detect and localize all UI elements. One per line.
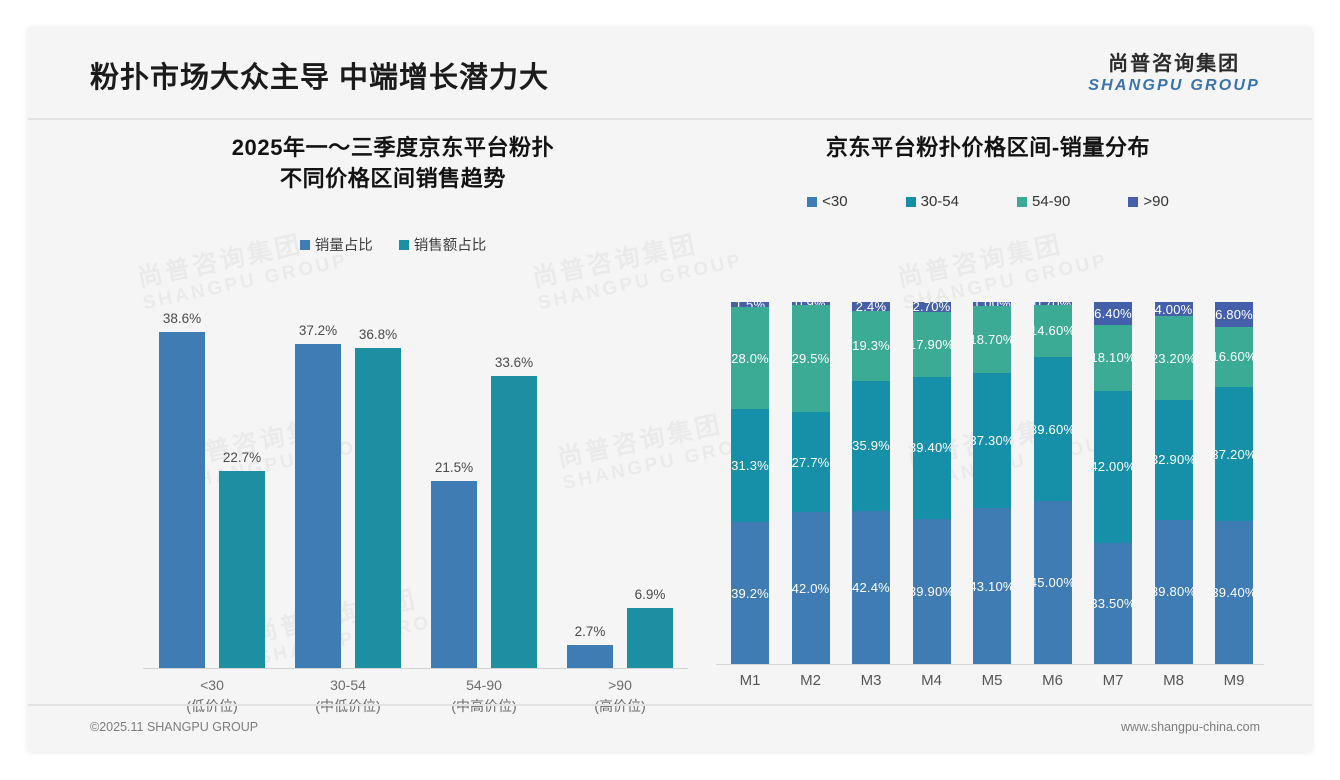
- stacked-bar-segment[interactable]: 6.40%: [1094, 302, 1132, 325]
- left-chart-title: 2025年一～三季度京东平台粉扑 不同价格区间销售趋势: [88, 132, 698, 194]
- stacked-bar-segment[interactable]: 18.10%: [1094, 325, 1132, 391]
- segment-value-label: 37.20%: [1215, 447, 1253, 462]
- stacked-bar[interactable]: 0.70%14.60%39.60%45.00%: [1034, 302, 1072, 664]
- stacked-bar-segment[interactable]: 42.00%: [1094, 391, 1132, 543]
- stacked-bar[interactable]: 2.4%19.3%35.9%42.4%: [852, 302, 890, 664]
- legend-item-30-54[interactable]: 30-54: [906, 193, 959, 210]
- bar-column[interactable]: 36.8%: [355, 320, 401, 668]
- x-axis-label: M1: [720, 672, 780, 689]
- stacked-bar-segment[interactable]: 19.3%: [852, 311, 890, 381]
- right-chart-legend: <30 30-54 54-90 >90: [708, 193, 1268, 210]
- segment-value-label: 39.40%: [913, 440, 951, 455]
- legend-swatch-icon: [300, 240, 310, 250]
- stacked-bar-segment[interactable]: 39.90%: [913, 519, 951, 663]
- page-title: 粉扑市场大众主导 中端增长潜力大: [90, 54, 549, 96]
- bar-group: 2.7%6.9%: [557, 320, 683, 668]
- bar-column[interactable]: 2.7%: [567, 320, 613, 668]
- left-chart-title-line1: 2025年一～三季度京东平台粉扑: [88, 132, 698, 163]
- bar-value-label: 2.7%: [575, 624, 606, 639]
- bar[interactable]: [627, 608, 673, 668]
- legend-swatch-icon: [399, 240, 409, 250]
- footer-copyright: ©2025.11 SHANGPU GROUP: [90, 720, 258, 734]
- bar[interactable]: [567, 645, 613, 668]
- stacked-bar[interactable]: 0.9%29.5%27.7%42.0%: [792, 302, 830, 664]
- segment-value-label: 23.20%: [1155, 351, 1193, 366]
- stacked-bar-segment[interactable]: 16.60%: [1215, 327, 1253, 387]
- footer-website[interactable]: www.shangpu-china.com: [1121, 720, 1260, 734]
- bar[interactable]: [295, 344, 341, 668]
- x-axis-label-range: 54-90: [421, 675, 547, 696]
- legend-item-gt90[interactable]: >90: [1128, 193, 1168, 210]
- stacked-bar-segment[interactable]: 39.40%: [1215, 521, 1253, 664]
- bar-value-label: 38.6%: [163, 311, 201, 326]
- x-axis-label-range: 30-54: [285, 675, 411, 696]
- stacked-bar-segment[interactable]: 42.4%: [852, 511, 890, 664]
- stacked-bar[interactable]: 1.5%28.0%31.3%39.2%: [731, 302, 769, 664]
- x-axis-label: M6: [1023, 672, 1083, 689]
- legend-swatch-icon: [807, 197, 817, 207]
- segment-value-label: 4.00%: [1155, 302, 1193, 317]
- stacked-bar-segment[interactable]: 18.70%: [973, 306, 1011, 374]
- segment-value-label: 17.90%: [913, 337, 951, 352]
- segment-value-label: 29.5%: [792, 351, 830, 366]
- left-chart-legend: 销量占比 销售额占比: [88, 234, 698, 255]
- right-chart-x-axis: [716, 664, 1264, 665]
- bar-column[interactable]: 33.6%: [491, 320, 537, 668]
- legend-item-sales-volume[interactable]: 销量占比: [300, 234, 373, 255]
- stacked-bar-segment[interactable]: 14.60%: [1034, 305, 1072, 358]
- stacked-bar-segment[interactable]: 31.3%: [731, 409, 769, 522]
- stacked-bar-segment[interactable]: 39.60%: [1034, 357, 1072, 500]
- legend-swatch-icon: [906, 197, 916, 207]
- slide-footer: ©2025.11 SHANGPU GROUP www.shangpu-china…: [28, 704, 1312, 752]
- segment-value-label: 39.80%: [1155, 584, 1193, 599]
- segment-value-label: 39.40%: [1215, 585, 1253, 600]
- legend-item-lt30[interactable]: <30: [807, 193, 847, 210]
- bar-column[interactable]: 38.6%: [159, 320, 205, 668]
- segment-value-label: 39.60%: [1034, 422, 1072, 437]
- bar[interactable]: [431, 481, 477, 668]
- stacked-bar-segment[interactable]: 23.20%: [1155, 316, 1193, 400]
- slide-header: 粉扑市场大众主导 中端增长潜力大 尚普咨询集团 SHANGPU GROUP: [28, 28, 1312, 120]
- bar-column[interactable]: 37.2%: [295, 320, 341, 668]
- stacked-bar-segment[interactable]: 37.30%: [973, 373, 1011, 508]
- brand-logo: 尚普咨询集团 SHANGPU GROUP: [1088, 52, 1260, 95]
- x-axis-label-range: >90: [557, 675, 683, 696]
- stacked-bar-segment[interactable]: 6.80%: [1215, 302, 1253, 327]
- stacked-bar-group: 6.40%18.10%42.00%33.50%: [1083, 302, 1143, 664]
- bar[interactable]: [355, 348, 401, 668]
- stacked-bar-group: 0.9%29.5%27.7%42.0%: [781, 302, 841, 664]
- legend-label: 30-54: [921, 193, 959, 210]
- left-chart-x-axis: [143, 668, 688, 669]
- segment-value-label: 42.0%: [792, 581, 830, 596]
- segment-value-label: 37.30%: [973, 433, 1011, 448]
- right-chart-panel: 京东平台粉扑价格区间-销量分布 <30 30-54 54-90 >90 1.5%…: [708, 132, 1268, 722]
- bar-group: 37.2%36.8%: [285, 320, 411, 668]
- right-chart-x-labels: M1M2M3M4M5M6M7M8M9: [716, 672, 1264, 702]
- bar-group: 21.5%33.6%: [421, 320, 547, 668]
- segment-value-label: 14.60%: [1034, 323, 1072, 338]
- stacked-bar-segment[interactable]: 33.50%: [1094, 543, 1132, 664]
- x-axis-label: M9: [1204, 672, 1264, 689]
- logo-english-text: SHANGPU GROUP: [1088, 77, 1260, 95]
- stacked-bar-segment[interactable]: 2.70%: [913, 302, 951, 312]
- segment-value-label: 33.50%: [1094, 596, 1132, 611]
- stacked-bar[interactable]: 2.70%17.90%39.40%39.90%: [913, 302, 951, 664]
- stacked-bar-segment[interactable]: 27.7%: [792, 412, 830, 512]
- bar-column[interactable]: 21.5%: [431, 320, 477, 668]
- right-chart-title: 京东平台粉扑价格区间-销量分布: [708, 132, 1268, 163]
- segment-value-label: 42.4%: [852, 580, 890, 595]
- stacked-bar-segment[interactable]: 42.0%: [792, 512, 830, 664]
- legend-item-sales-amount[interactable]: 销售额占比: [399, 234, 487, 255]
- segment-value-label: 19.3%: [852, 338, 890, 353]
- bar-value-label: 33.6%: [495, 355, 533, 370]
- stacked-bar[interactable]: 6.40%18.10%42.00%33.50%: [1094, 302, 1132, 664]
- x-axis-label: M4: [902, 672, 962, 689]
- bar[interactable]: [159, 332, 205, 668]
- legend-label: 销量占比: [315, 234, 373, 255]
- bar-group: 38.6%22.7%: [149, 320, 275, 668]
- bar-value-label: 37.2%: [299, 323, 337, 338]
- segment-value-label: 6.40%: [1094, 306, 1132, 321]
- stacked-bar-group: 4.00%23.20%32.90%39.80%: [1144, 302, 1204, 664]
- x-axis-label: M2: [781, 672, 841, 689]
- stacked-bar[interactable]: 4.00%23.20%32.90%39.80%: [1155, 302, 1193, 664]
- bar[interactable]: [491, 376, 537, 668]
- segment-value-label: 45.00%: [1034, 575, 1072, 590]
- stacked-bar-segment[interactable]: 39.80%: [1155, 520, 1193, 664]
- legend-item-54-90[interactable]: 54-90: [1017, 193, 1070, 210]
- stacked-bar-segment[interactable]: 45.00%: [1034, 501, 1072, 664]
- segment-value-label: 18.70%: [973, 332, 1011, 347]
- stacked-bar-group: 1.5%28.0%31.3%39.2%: [720, 302, 780, 664]
- segment-value-label: 32.90%: [1155, 452, 1193, 467]
- segment-value-label: 18.10%: [1094, 350, 1132, 365]
- stacked-bar-segment[interactable]: 43.10%: [973, 508, 1011, 664]
- x-axis-label-range: <30: [149, 675, 275, 696]
- logo-chinese-text: 尚普咨询集团: [1088, 52, 1260, 77]
- left-chart-title-line2: 不同价格区间销售趋势: [88, 163, 698, 194]
- stacked-bar-segment[interactable]: 35.9%: [852, 381, 890, 511]
- x-axis-label: M8: [1144, 672, 1204, 689]
- stacked-bar-group: 6.80%16.60%37.20%39.40%: [1204, 302, 1264, 664]
- stacked-bar[interactable]: 1.00%18.70%37.30%43.10%: [973, 302, 1011, 664]
- legend-swatch-icon: [1017, 197, 1027, 207]
- segment-value-label: 27.7%: [792, 455, 830, 470]
- slide-canvas: 尚普咨询集团 SHANGPU GROUP 尚普咨询集团 SHANGPU GROU…: [28, 28, 1312, 752]
- legend-label: <30: [822, 193, 847, 210]
- x-axis-label: M7: [1083, 672, 1143, 689]
- right-chart-plot-area: 1.5%28.0%31.3%39.2%0.9%29.5%27.7%42.0%2.…: [716, 302, 1264, 664]
- bar-value-label: 6.9%: [635, 587, 666, 602]
- stacked-bar-segment[interactable]: 39.2%: [731, 522, 769, 664]
- legend-swatch-icon: [1128, 197, 1138, 207]
- stacked-bar-segment[interactable]: 29.5%: [792, 305, 830, 412]
- bar-column[interactable]: 22.7%: [219, 320, 265, 668]
- x-axis-label: M5: [962, 672, 1022, 689]
- legend-label: 54-90: [1032, 193, 1070, 210]
- legend-label: >90: [1143, 193, 1168, 210]
- bar-column[interactable]: 6.9%: [627, 320, 673, 668]
- bar-value-label: 36.8%: [359, 327, 397, 342]
- stacked-bar-group: 2.70%17.90%39.40%39.90%: [902, 302, 962, 664]
- segment-value-label: 16.60%: [1215, 349, 1253, 364]
- bar-value-label: 22.7%: [223, 450, 261, 465]
- stacked-bar-segment[interactable]: 28.0%: [731, 307, 769, 408]
- segment-value-label: 31.3%: [731, 458, 769, 473]
- left-chart-panel: 2025年一～三季度京东平台粉扑 不同价格区间销售趋势 销量占比 销售额占比 3…: [88, 132, 698, 722]
- segment-value-label: 35.9%: [852, 438, 890, 453]
- stacked-bar[interactable]: 6.80%16.60%37.20%39.40%: [1215, 302, 1253, 664]
- stacked-bar-segment[interactable]: 4.00%: [1155, 302, 1193, 316]
- bar-value-label: 21.5%: [435, 460, 473, 475]
- stacked-bar-group: 2.4%19.3%35.9%42.4%: [841, 302, 901, 664]
- segment-value-label: 6.80%: [1215, 307, 1253, 322]
- stacked-bar-segment[interactable]: 32.90%: [1155, 400, 1193, 519]
- segment-value-label: 42.00%: [1094, 459, 1132, 474]
- stacked-bar-segment[interactable]: 2.4%: [852, 302, 890, 311]
- segment-value-label: 39.2%: [731, 586, 769, 601]
- segment-value-label: 28.0%: [731, 351, 769, 366]
- stacked-bar-segment[interactable]: 37.20%: [1215, 387, 1253, 522]
- stacked-bar-group: 0.70%14.60%39.60%45.00%: [1023, 302, 1083, 664]
- x-axis-label: M3: [841, 672, 901, 689]
- stacked-bar-segment[interactable]: 17.90%: [913, 312, 951, 377]
- left-chart-plot-area: 38.6%22.7%37.2%36.8%21.5%33.6%2.7%6.9%: [143, 320, 688, 668]
- bar[interactable]: [219, 471, 265, 668]
- segment-value-label: 39.90%: [913, 584, 951, 599]
- segment-value-label: 43.10%: [973, 579, 1011, 594]
- stacked-bar-group: 1.00%18.70%37.30%43.10%: [962, 302, 1022, 664]
- stacked-bar-segment[interactable]: 39.40%: [913, 377, 951, 520]
- legend-label: 销售额占比: [414, 234, 487, 255]
